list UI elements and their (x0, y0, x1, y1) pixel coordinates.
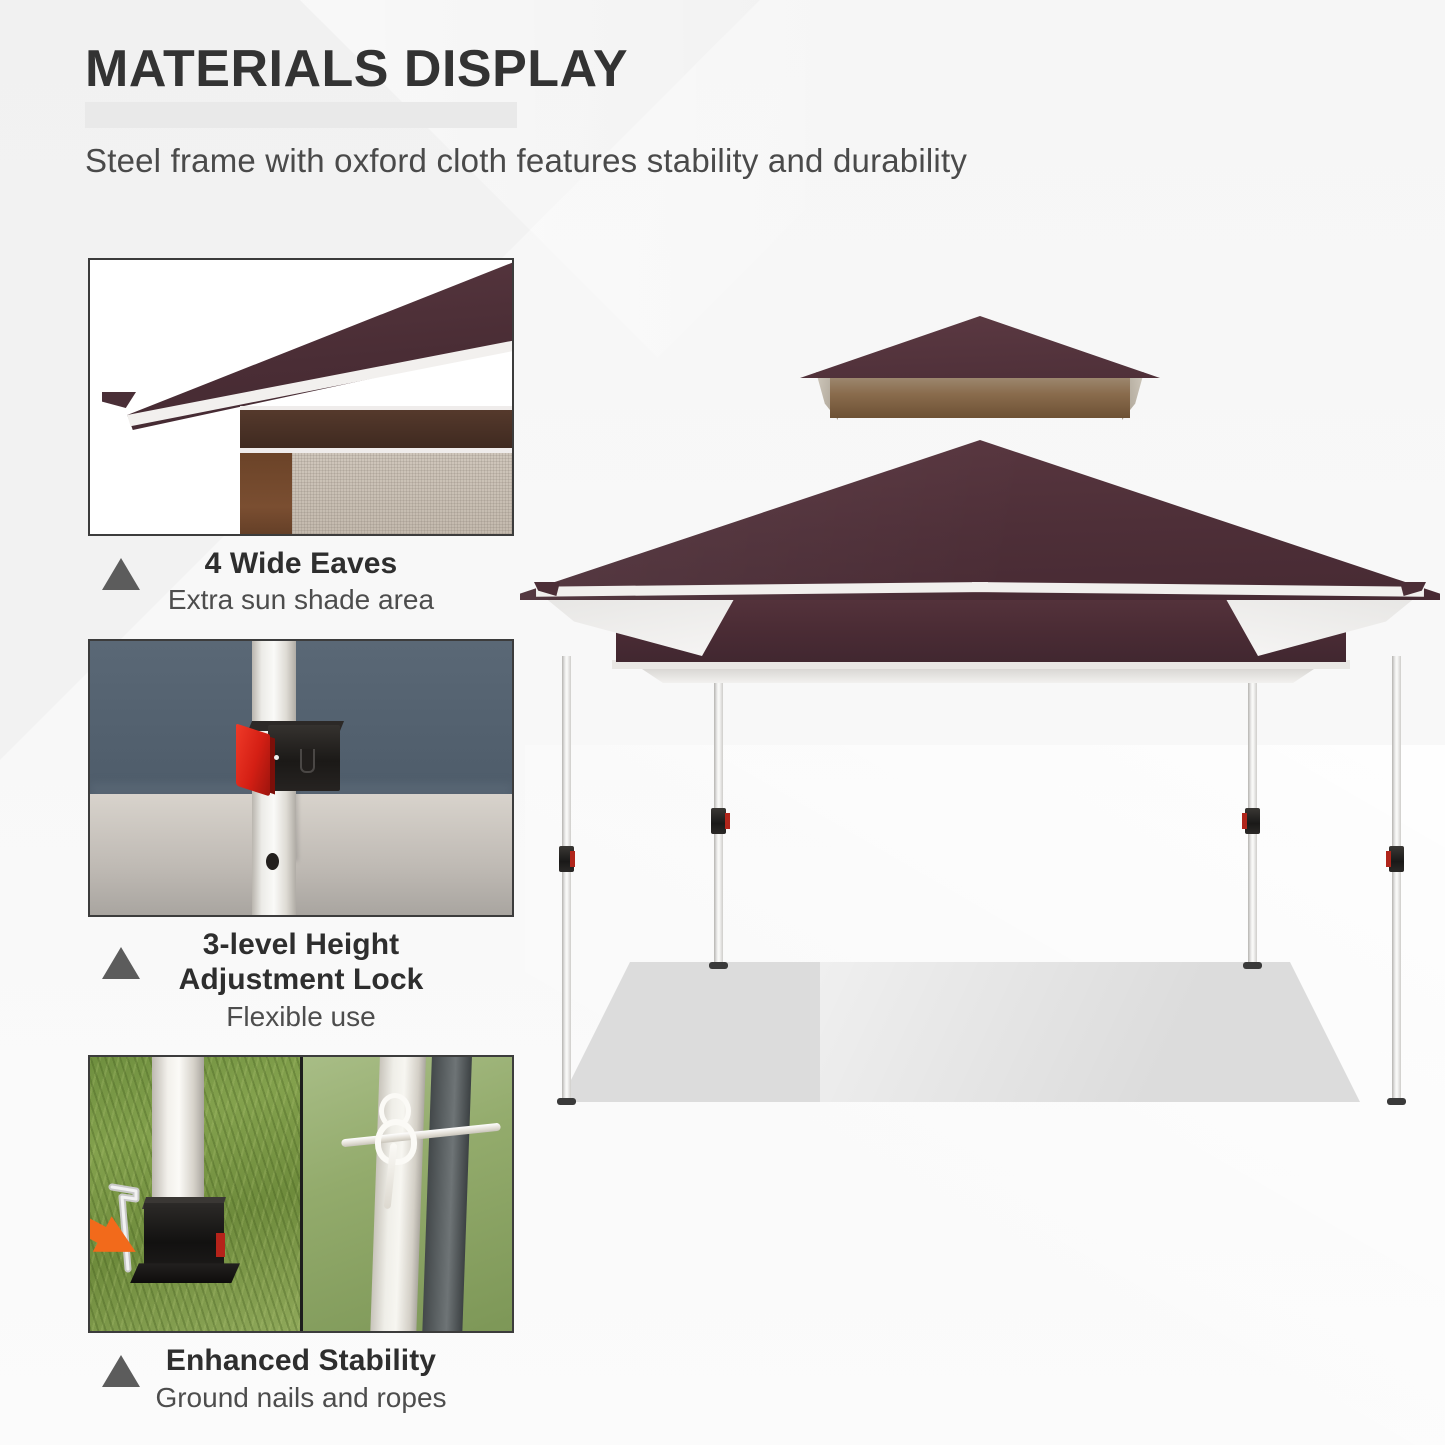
feature-item-height-lock: 3-level Height Adjustment Lock Flexible … (88, 639, 514, 1033)
feature-subtitle: Extra sun shade area (88, 583, 514, 617)
height-lock-button-back-right (1242, 813, 1247, 829)
gazebo-foot-front-right (1387, 1098, 1406, 1105)
feature-title-line-2: Adjustment Lock (88, 962, 514, 997)
gazebo-leg-front-left (562, 656, 571, 1102)
main-canopy-highlight (520, 440, 1440, 600)
stability-dark-pole (422, 1057, 472, 1331)
feature-item-wide-eaves: 4 Wide Eaves Extra sun shade area (88, 258, 514, 617)
height-lock-button-front-left (570, 851, 575, 867)
lock-housing-slot (300, 749, 315, 773)
feature-thumbnail-wide-eaves[interactable] (88, 258, 514, 536)
stability-split-divider (300, 1057, 303, 1331)
gazebo-foot-back-left (709, 962, 728, 969)
stability-lock-chip (216, 1233, 225, 1257)
height-lock-button-front-right (1386, 851, 1391, 867)
height-lock-button-back-left (725, 813, 730, 829)
title-wrapper: MATERIALS DISPLAY (85, 42, 628, 97)
floor-sheen (820, 962, 1360, 1102)
gazebo-foot-back-right (1243, 962, 1262, 969)
page-title: MATERIALS DISPLAY (85, 42, 628, 97)
feature-title: Enhanced Stability (88, 1343, 514, 1378)
feature-list: 4 Wide Eaves Extra sun shade area (88, 258, 514, 1414)
eave-mesh-sidewall (292, 453, 514, 536)
stability-foot-housing (144, 1203, 224, 1269)
feature-caption-wide-eaves: 4 Wide Eaves Extra sun shade area (88, 536, 514, 617)
eave-corner-post-fabric (240, 453, 292, 536)
gazebo-leg-front-right (1392, 656, 1401, 1102)
page-header: MATERIALS DISPLAY (85, 42, 628, 97)
feature-caption-stability: Enhanced Stability Ground nails and rope… (88, 1333, 514, 1414)
title-highlight-bar (85, 102, 517, 128)
feature-thumbnail-height-lock[interactable] (88, 639, 514, 917)
lock-photo-ground (90, 794, 512, 915)
roof-vent-band (830, 376, 1130, 418)
triangle-marker-icon (102, 1355, 140, 1387)
gazebo-foot-front-left (557, 1098, 576, 1105)
height-lock-collar-back-right (1245, 808, 1260, 834)
feature-subtitle: Ground nails and ropes (88, 1381, 514, 1415)
feature-title-line-1: 3-level Height (88, 927, 514, 962)
stability-right-panel (301, 1057, 512, 1331)
canopy-top-cap (800, 316, 1160, 378)
page-subtitle: Steel frame with oxford cloth features s… (85, 142, 967, 180)
feature-subtitle: Flexible use (88, 1000, 514, 1034)
feature-caption-height-lock: 3-level Height Adjustment Lock Flexible … (88, 917, 514, 1033)
rope-knot (375, 1119, 417, 1165)
feature-thumbnail-stability[interactable] (88, 1055, 514, 1333)
height-lock-collar-back-left (711, 808, 726, 834)
height-lock-collar-front-right (1389, 846, 1404, 872)
feature-item-stability: Enhanced Stability Ground nails and rope… (88, 1055, 514, 1414)
lock-pin-hole (266, 853, 279, 870)
hero-gazebo-image (520, 300, 1440, 1120)
valance-underside (628, 669, 1328, 683)
stability-pole (152, 1055, 204, 1207)
triangle-marker-icon (102, 558, 140, 590)
triangle-marker-icon (102, 947, 140, 979)
lock-rivet-dot (274, 755, 279, 760)
materials-display-page: MATERIALS DISPLAY Steel frame with oxfor… (0, 0, 1445, 1445)
lock-red-button (236, 723, 270, 796)
eave-inner-band (240, 410, 514, 448)
feature-title: 4 Wide Eaves (88, 546, 514, 581)
